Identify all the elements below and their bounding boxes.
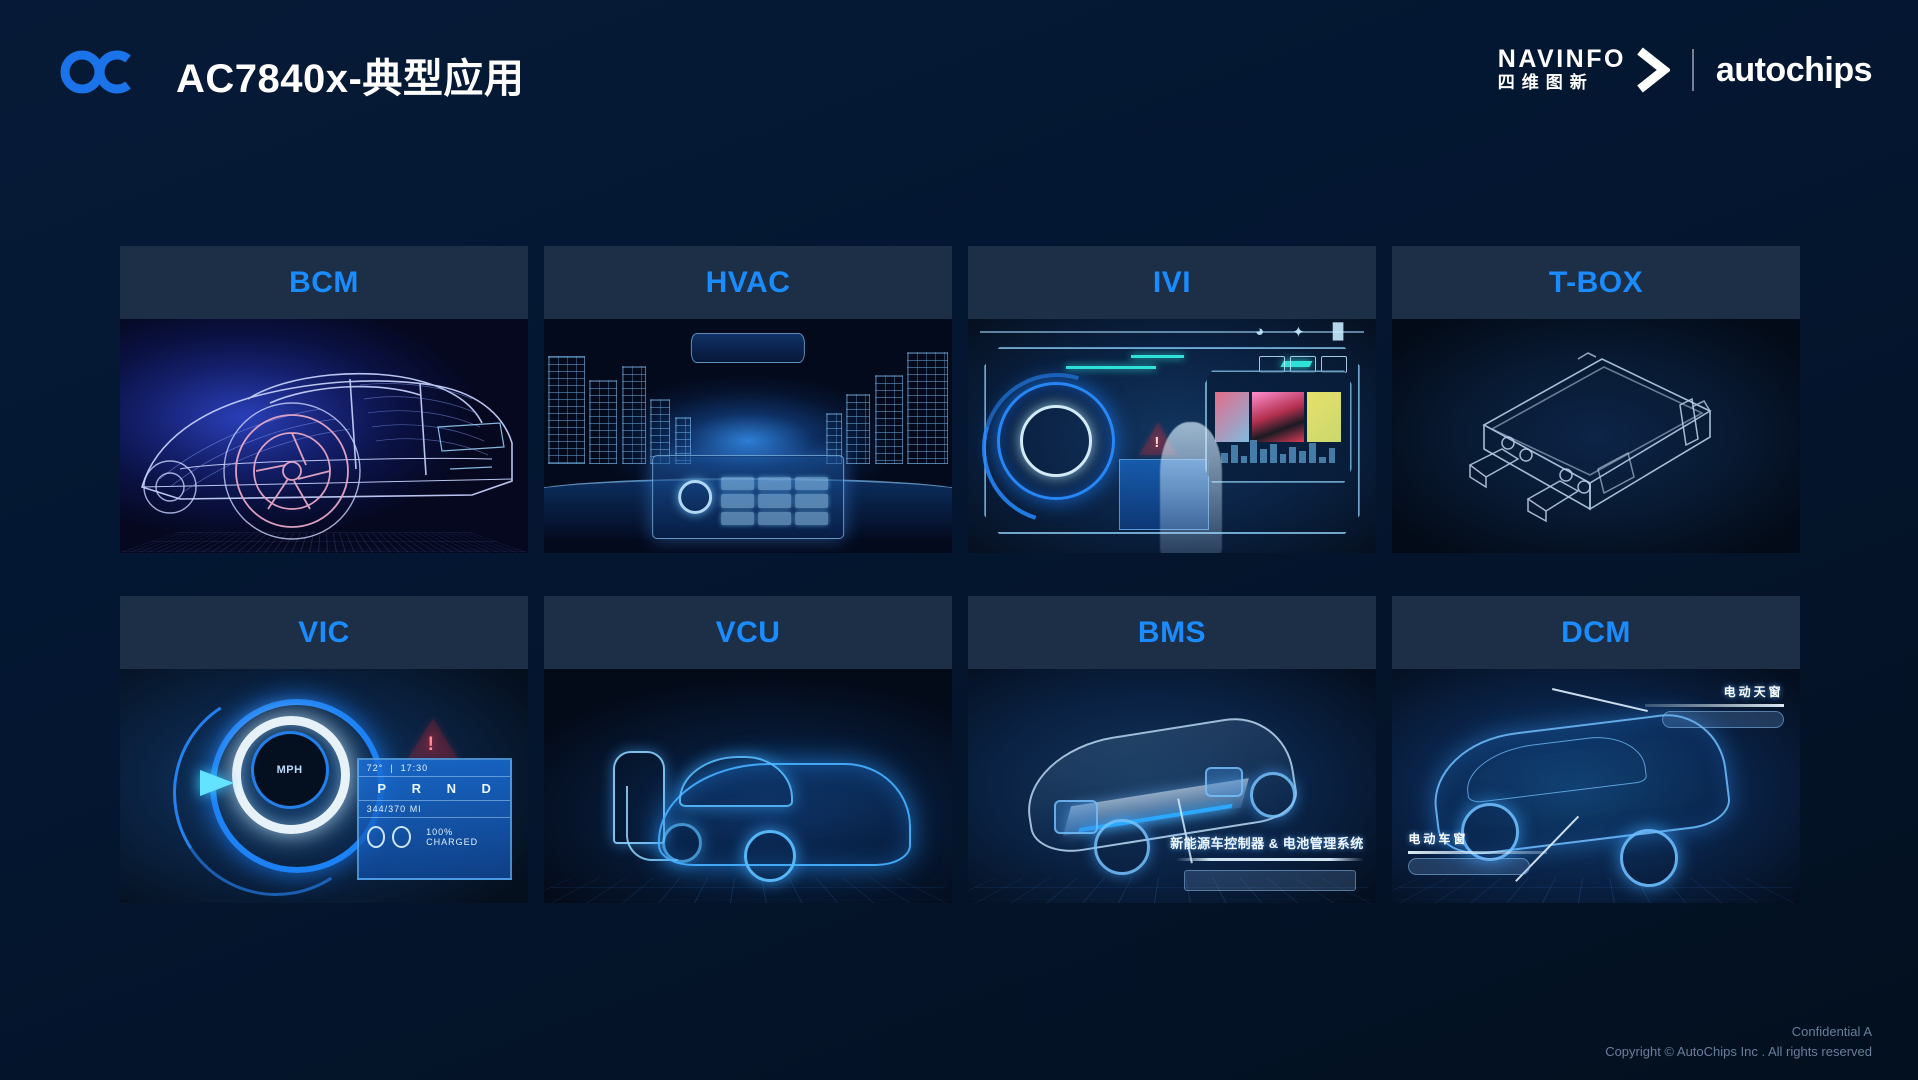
card-title-hvac: HVAC (706, 266, 791, 300)
card-header-dcm: DCM (1392, 596, 1800, 669)
vic-status-panel: 72° | 17:30 P R N D 344/370 MI 100 (357, 758, 512, 880)
confidential-label: Confidential A (1605, 1022, 1872, 1042)
bms-footer-pill (1184, 870, 1355, 891)
brand-lockup: NAVINFO 四维图新 autochips (1498, 38, 1872, 102)
ivi-media-panel (1205, 370, 1352, 482)
card-header-bms: BMS (968, 596, 1376, 669)
slide-header: AC7840x-典型应用 NAVINFO 四维图新 autochips (0, 0, 1918, 150)
card-header-bcm: BCM (120, 246, 528, 319)
signal-icon: █ (1333, 323, 1344, 341)
gauge-unit-label: MPH (277, 764, 303, 776)
gear-d: D (482, 781, 491, 796)
card-header-hvac: HVAC (544, 246, 952, 319)
card-vic[interactable]: VIC MPH 72° | 17:30 (120, 596, 528, 903)
slide-footer: Confidential A Copyright © AutoChips Inc… (1605, 1022, 1872, 1062)
card-art-dcm: 电动天窗 电动车窗 (1392, 669, 1800, 903)
callout-sunroof: 电动天窗 (1645, 683, 1784, 728)
card-title-bms: BMS (1138, 616, 1206, 650)
slide-root: AC7840x-典型应用 NAVINFO 四维图新 autochips BCM (0, 0, 1918, 1080)
copyright-label: Copyright © AutoChips Inc . All rights r… (1605, 1042, 1872, 1062)
gear-n: N (447, 781, 456, 796)
pointing-hand-icon (1160, 422, 1222, 553)
card-bms[interactable]: BMS 新能源车控制器 & 电池管理系统 (968, 596, 1376, 903)
bms-caption: 新能源车控制器 & 电池管理系统 (1170, 833, 1364, 852)
vic-icon-row: 100% CHARGED (359, 818, 510, 856)
gear-p: P (377, 781, 386, 796)
speedometer-hub: MPH (251, 731, 329, 809)
card-title-ivi: IVI (1153, 266, 1191, 300)
vic-battery-label: 100% CHARGED (418, 824, 502, 850)
callout-sunroof-label: 电动天窗 (1724, 683, 1784, 700)
card-ivi[interactable]: IVI ◕ ✦ █ (968, 246, 1376, 553)
card-art-tbox (1392, 319, 1800, 553)
chevron-right-icon (1636, 47, 1670, 93)
card-title-bcm: BCM (289, 266, 359, 300)
wifi-icon: ◕ (1255, 323, 1264, 341)
card-art-vcu (544, 669, 952, 903)
ivi-status-icons: ◕ ✦ █ (1255, 323, 1343, 341)
callout-window: 电动车窗 (1408, 830, 1547, 875)
rearview-mirror-icon (691, 333, 805, 363)
wireframe-sports-car-icon (120, 319, 528, 553)
page-title: AC7840x-典型应用 (176, 46, 524, 104)
card-header-ivi: IVI (968, 246, 1376, 319)
ivi-equalizer (1221, 437, 1335, 463)
card-tbox[interactable]: T-BOX (1392, 246, 1800, 553)
ivi-speed-gauge-icon (997, 382, 1115, 500)
vic-temp-label: 72° (367, 763, 384, 773)
card-art-vic: MPH 72° | 17:30 P R N D (120, 669, 528, 903)
card-art-bcm (120, 319, 528, 553)
autochips-logo: autochips (1716, 51, 1872, 90)
card-title-dcm: DCM (1561, 616, 1631, 650)
oc-logo-icon (58, 48, 140, 96)
card-dcm[interactable]: DCM 电动天窗 电动车窗 (1392, 596, 1800, 903)
card-header-tbox: T-BOX (1392, 246, 1800, 319)
card-art-ivi: ◕ ✦ █ (968, 319, 1376, 553)
climate-control-panel (652, 455, 844, 539)
card-bcm[interactable]: BCM (120, 246, 528, 553)
front-motor-icon (1054, 800, 1098, 834)
card-art-bms: 新能源车控制器 & 电池管理系统 (968, 669, 1376, 903)
navinfo-logo: NAVINFO 四维图新 (1498, 46, 1670, 94)
bluetooth-icon: ✦ (1292, 323, 1305, 341)
card-title-vcu: VCU (716, 616, 781, 650)
telematics-box-icon (1392, 319, 1800, 553)
card-title-tbox: T-BOX (1549, 266, 1643, 300)
gear-r: R (412, 781, 421, 796)
vic-temp-time-row: 72° | 17:30 (359, 760, 510, 777)
vic-icon-b (392, 826, 411, 848)
navinfo-cn-label: 四维图新 (1498, 72, 1594, 94)
climate-button-grid (721, 477, 827, 525)
climate-knob-icon (678, 480, 712, 514)
card-title-vic: VIC (298, 616, 350, 650)
card-header-vcu: VCU (544, 596, 952, 669)
brand-divider (1692, 49, 1694, 91)
card-header-vic: VIC (120, 596, 528, 669)
card-vcu[interactable]: VCU (544, 596, 952, 903)
gear-indicator: P R N D (359, 777, 510, 801)
ivi-album-thumbnails (1215, 392, 1341, 442)
callout-window-label: 电动车窗 (1408, 830, 1468, 847)
vic-time-label: 17:30 (401, 763, 429, 773)
card-art-hvac (544, 319, 952, 553)
card-hvac[interactable]: HVAC (544, 246, 952, 553)
vic-range-label: 344/370 MI (359, 801, 510, 818)
speedometer-needle-icon (200, 770, 234, 796)
warning-triangle-icon (407, 718, 459, 760)
vic-icon-a (367, 826, 386, 848)
application-card-grid: BCM (120, 246, 1800, 903)
navinfo-en-label: NAVINFO (1498, 46, 1626, 72)
rear-motor-icon (1205, 767, 1243, 797)
